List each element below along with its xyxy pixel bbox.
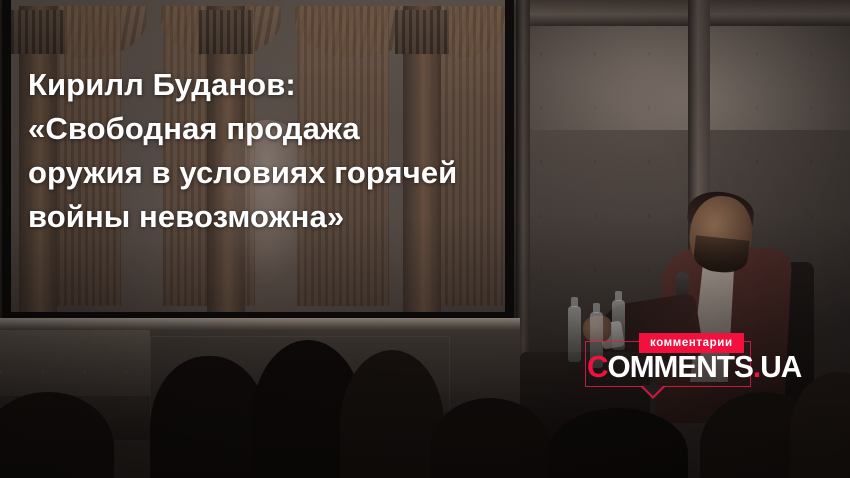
logo-wordmark: COMMENTS.UA bbox=[587, 351, 801, 382]
water-bottle bbox=[568, 306, 581, 362]
comments-ua-logo[interactable]: комментарии COMMENTS.UA bbox=[585, 333, 751, 395]
quilted-wall-left bbox=[0, 330, 150, 396]
logo-wordmark-middle: OMMENTS bbox=[608, 349, 753, 384]
logo-speech-bubble-tail bbox=[651, 386, 652, 396]
logo-wordmark-ua: UA bbox=[760, 349, 801, 384]
screenshot-root: Кирилл Буданов: «Свободная продажа оружи… bbox=[0, 0, 850, 478]
wall-cornice bbox=[516, 0, 850, 26]
headline-text: Кирилл Буданов: «Свободная продажа оружи… bbox=[28, 63, 508, 239]
logo-wordmark-c: C bbox=[587, 349, 608, 384]
